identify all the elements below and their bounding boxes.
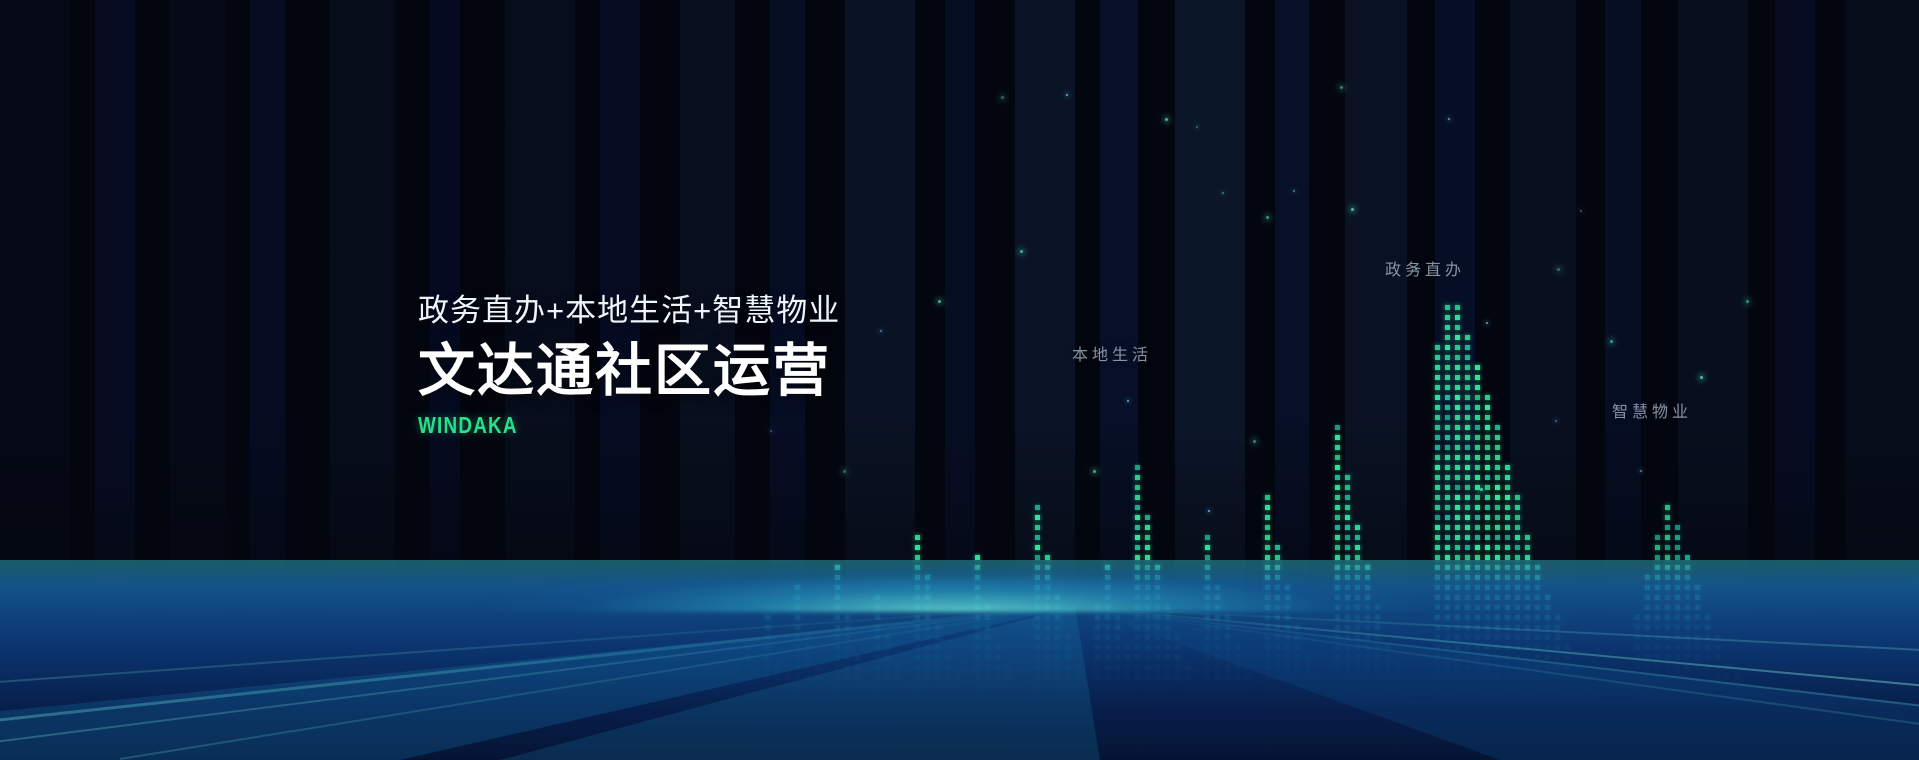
chart-dot (1485, 445, 1490, 450)
chart-dot (1335, 435, 1340, 440)
chart-dot (1435, 395, 1440, 400)
chart-dot (1485, 455, 1490, 460)
chart-category-label: 智慧物业 (1612, 398, 1692, 422)
chart-dot (1435, 405, 1440, 410)
chart-dot (1455, 485, 1460, 490)
chart-dot (1485, 435, 1490, 440)
hero-banner: 政务直办本地生活智慧物业 政务直办+本地生活+智慧物业 文达通社区运营 WIND… (0, 0, 1919, 760)
chart-dot (1495, 445, 1500, 450)
chart-dot (1455, 305, 1460, 310)
chart-dot (1445, 445, 1450, 450)
chart-dot (1455, 375, 1460, 380)
chart-dot (1335, 475, 1340, 480)
chart-dot (1335, 425, 1340, 430)
chart-dot (1135, 475, 1140, 480)
chart-dot (1445, 465, 1450, 470)
chart-dot (1465, 345, 1470, 350)
brand-wordmark: WINDAKA (418, 412, 764, 439)
chart-dot (1445, 425, 1450, 430)
chart-dot (1475, 475, 1480, 480)
chart-dot (1445, 355, 1450, 360)
chart-dot (1485, 485, 1490, 490)
chart-dot (1455, 335, 1460, 340)
chart-dot (1475, 385, 1480, 390)
chart-dot (1465, 405, 1470, 410)
chart-dot (1485, 415, 1490, 420)
chart-dot (1445, 415, 1450, 420)
chart-dot (1505, 475, 1510, 480)
chart-dot (1135, 465, 1140, 470)
chart-dot (1445, 375, 1450, 380)
chart-dot (1465, 455, 1470, 460)
chart-dot (1475, 465, 1480, 470)
chart-dot (1495, 435, 1500, 440)
chart-dot (1495, 465, 1500, 470)
chart-dot (1445, 325, 1450, 330)
chart-dot (1455, 475, 1460, 480)
chart-dot (1475, 425, 1480, 430)
chart-dot (1485, 395, 1490, 400)
chart-dot (1455, 365, 1460, 370)
chart-dot (1465, 475, 1470, 480)
chart-dot (1475, 435, 1480, 440)
chart-dot (1445, 475, 1450, 480)
chart-dot (1475, 485, 1480, 490)
chart-dot (1475, 455, 1480, 460)
chart-dot (1455, 435, 1460, 440)
chart-dot (1345, 485, 1350, 490)
chart-dot (1475, 365, 1480, 370)
chart-dot (1485, 475, 1490, 480)
chart-dot (1435, 475, 1440, 480)
chart-dot (1465, 335, 1470, 340)
chart-dot (1445, 335, 1450, 340)
chart-dot (1495, 475, 1500, 480)
hero-text-block: 政务直办+本地生活+智慧物业 文达通社区运营 WINDAKA (418, 292, 840, 439)
chart-dot (1465, 445, 1470, 450)
horizon-glow (210, 492, 1710, 612)
chart-dot (1445, 345, 1450, 350)
chart-dot (1335, 455, 1340, 460)
chart-dot (1505, 465, 1510, 470)
hero-title: 文达通社区运营 (418, 341, 840, 403)
chart-dot (1465, 375, 1470, 380)
chart-dot (1435, 425, 1440, 430)
chart-dot (1495, 485, 1500, 490)
chart-dot (1465, 395, 1470, 400)
chart-dot (1445, 305, 1450, 310)
chart-dot (1345, 475, 1350, 480)
chart-dot (1455, 425, 1460, 430)
chart-dot (1435, 365, 1440, 370)
chart-category-label: 政务直办 (1385, 256, 1465, 280)
chart-dot (1455, 405, 1460, 410)
chart-dot (1445, 315, 1450, 320)
chart-dot (1135, 485, 1140, 490)
chart-dot (1465, 485, 1470, 490)
chart-dot (1505, 485, 1510, 490)
chart-dot (1455, 415, 1460, 420)
chart-dot (1335, 445, 1340, 450)
chart-dot (1475, 405, 1480, 410)
chart-dot (1435, 445, 1440, 450)
hero-subtitle: 政务直办+本地生活+智慧物业 (418, 292, 840, 331)
chart-dot (1335, 465, 1340, 470)
chart-dot (1435, 435, 1440, 440)
chart-dot (1485, 465, 1490, 470)
chart-dot (1445, 485, 1450, 490)
chart-dot (1435, 375, 1440, 380)
chart-dot (1465, 415, 1470, 420)
chart-dot (1465, 355, 1470, 360)
chart-dot (1465, 425, 1470, 430)
chart-dot (1455, 445, 1460, 450)
chart-dot (1435, 415, 1440, 420)
chart-dot (1445, 365, 1450, 370)
chart-category-label: 本地生活 (1072, 341, 1152, 365)
chart-dot (1475, 375, 1480, 380)
chart-dot (1475, 395, 1480, 400)
chart-dot (1485, 405, 1490, 410)
chart-dot (1455, 315, 1460, 320)
chart-dot (1445, 435, 1450, 440)
chart-dot (1435, 455, 1440, 460)
chart-dot (1485, 425, 1490, 430)
chart-dot (1455, 465, 1460, 470)
chart-dot (1465, 435, 1470, 440)
chart-dot (1465, 465, 1470, 470)
chart-dot (1435, 465, 1440, 470)
chart-dot (1475, 445, 1480, 450)
chart-dot (1435, 385, 1440, 390)
chart-dot (1445, 395, 1450, 400)
chart-dot (1465, 365, 1470, 370)
chart-dot (1495, 425, 1500, 430)
chart-dot (1455, 345, 1460, 350)
chart-dot (1435, 345, 1440, 350)
chart-dot (1455, 355, 1460, 360)
chart-dot (1435, 355, 1440, 360)
chart-dot (1335, 485, 1340, 490)
chart-dot (1455, 385, 1460, 390)
chart-dot (1475, 415, 1480, 420)
chart-dot (1455, 395, 1460, 400)
chart-dot (1455, 325, 1460, 330)
chart-dot (1455, 455, 1460, 460)
chart-dot (1435, 485, 1440, 490)
chart-dot (1465, 385, 1470, 390)
chart-dot (1445, 405, 1450, 410)
chart-dot (1445, 385, 1450, 390)
chart-dot (1445, 455, 1450, 460)
chart-dot (1495, 455, 1500, 460)
